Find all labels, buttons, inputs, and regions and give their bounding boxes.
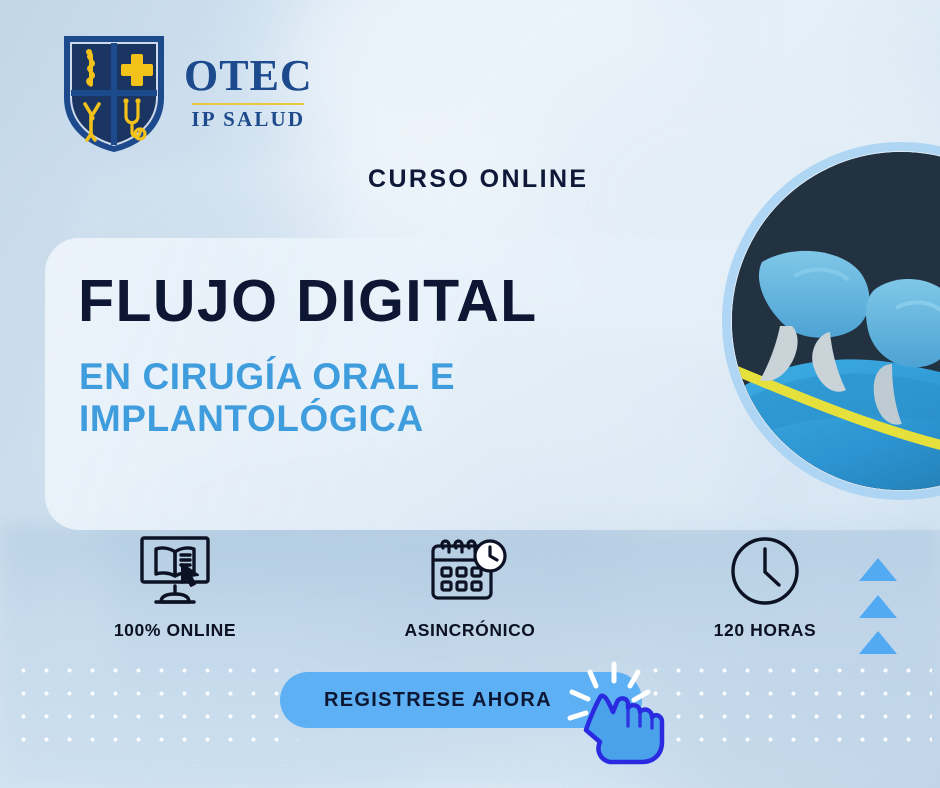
feature-item-hours: 120 HORAS <box>650 534 880 641</box>
page-title: FLUJO DIGITAL <box>78 272 538 331</box>
eyebrow-label: CURSO ONLINE <box>368 165 588 194</box>
page-subtitle-line1: EN CIRUGÍA ORAL E <box>79 356 455 398</box>
calendar-clock-icon <box>427 534 513 608</box>
monitor-book-icon <box>134 534 216 608</box>
register-now-button[interactable]: REGISTRESE AHORA <box>280 672 642 728</box>
feature-label: 120 HORAS <box>714 620 817 641</box>
feature-label: 100% ONLINE <box>114 620 236 641</box>
promo-poster: OTEC IP SALUD CURSO ONLINE FLUJO DIGITAL… <box>0 0 940 788</box>
feature-list: 100% ONLINE <box>60 534 880 641</box>
brand-logo: OTEC IP SALUD <box>58 28 313 156</box>
shield-icon <box>58 28 170 156</box>
cta-area: REGISTRESE AHORA <box>280 672 670 728</box>
brand-text: OTEC IP SALUD <box>184 54 313 130</box>
hero-image-circle <box>722 142 940 502</box>
brand-divider <box>192 103 304 105</box>
dot-grid-right <box>640 655 932 751</box>
clock-icon <box>728 534 802 608</box>
circle-ring-border <box>722 142 940 500</box>
brand-subtitle: IP SALUD <box>191 109 305 130</box>
page-subtitle: EN CIRUGÍA ORAL E IMPLANTOLÓGICA <box>79 356 455 440</box>
dot-grid-left <box>8 655 298 751</box>
feature-item-online: 100% ONLINE <box>60 534 290 641</box>
brand-name: OTEC <box>184 54 313 98</box>
page-subtitle-line2: IMPLANTOLÓGICA <box>79 398 455 440</box>
feature-item-asynchronous: ASINCRÓNICO <box>355 534 585 641</box>
feature-label: ASINCRÓNICO <box>404 620 535 641</box>
